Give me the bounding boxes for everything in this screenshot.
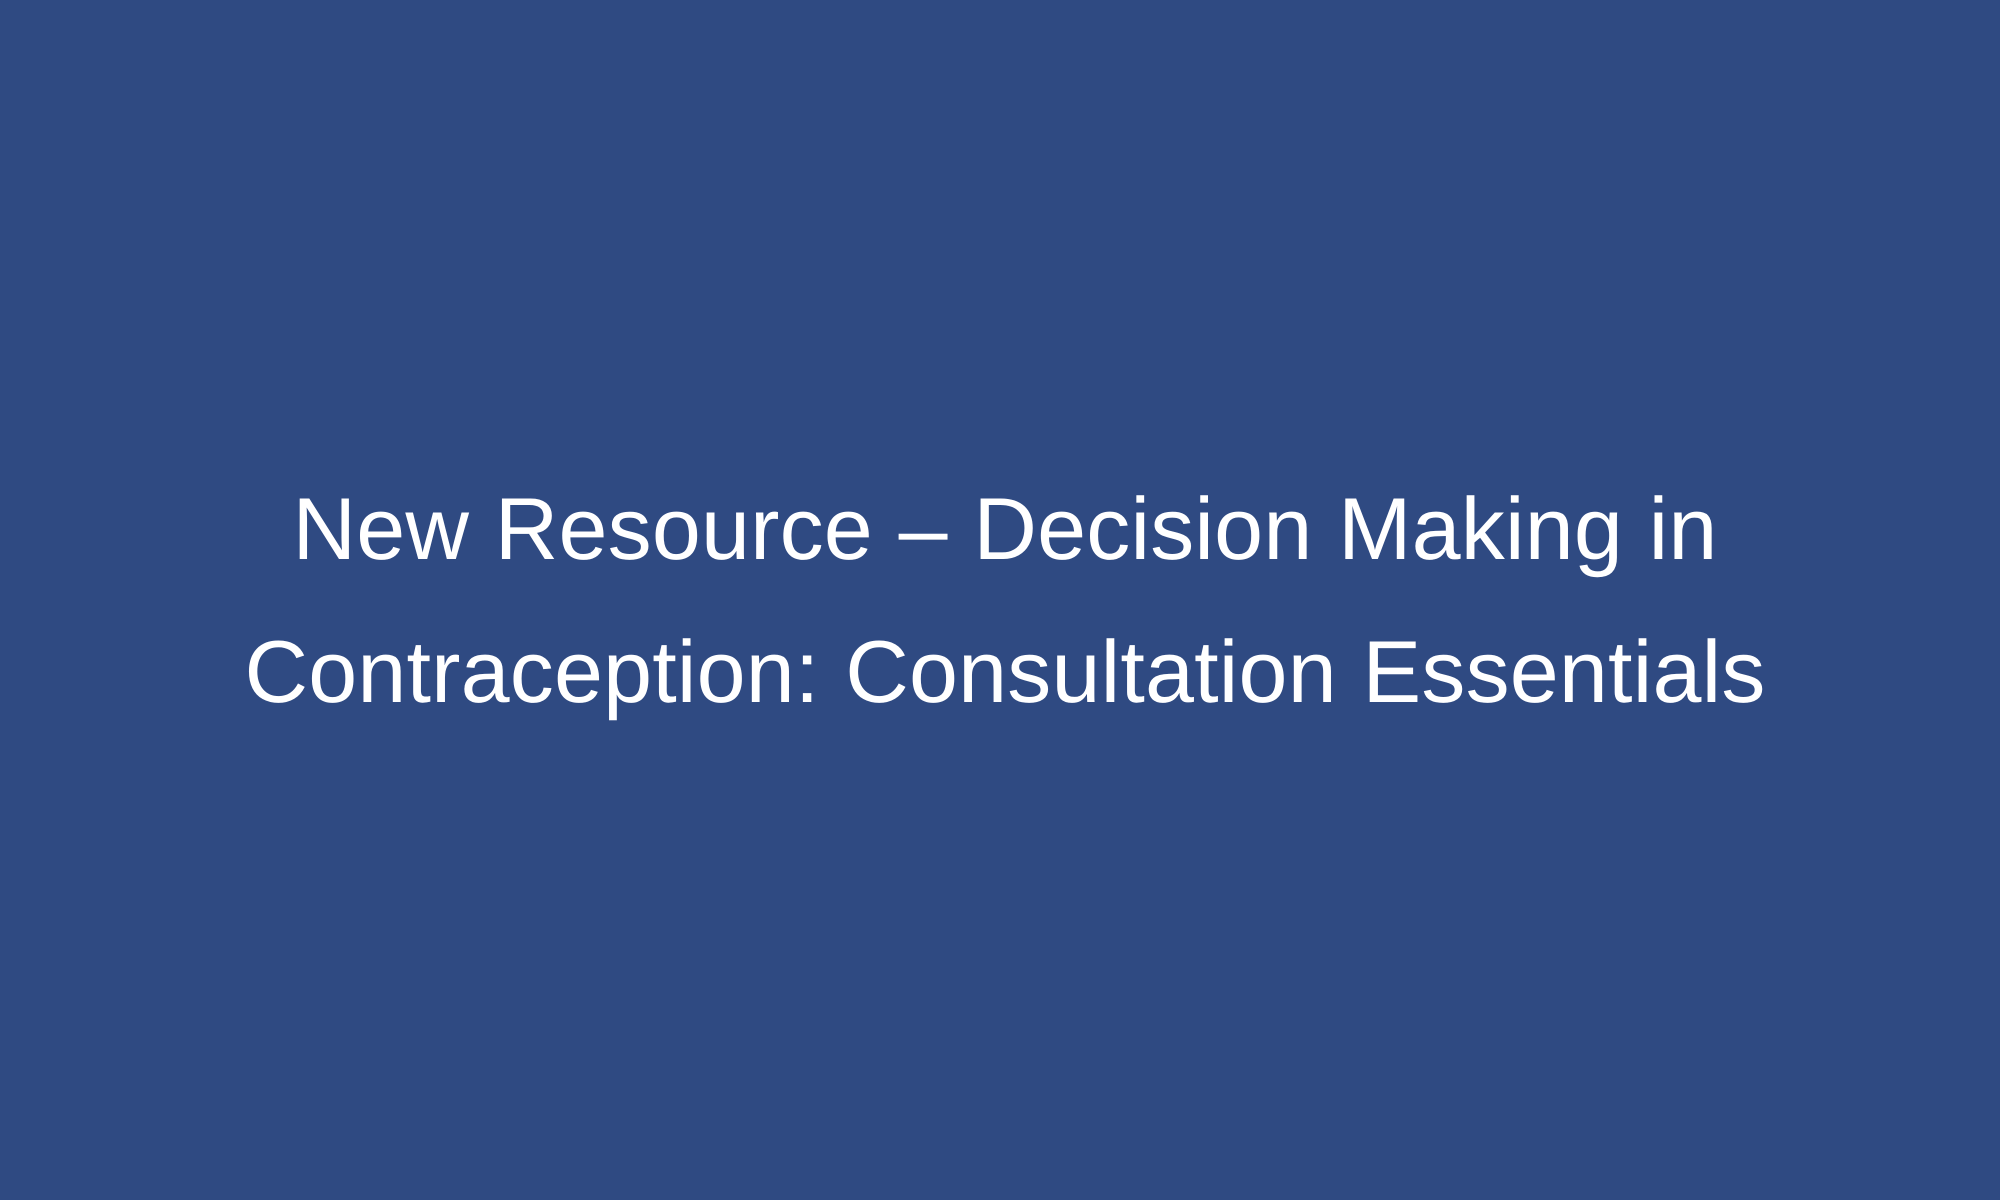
page-title: New Resource – Decision Making in Contra… — [235, 457, 1775, 743]
title-block: New Resource – Decision Making in Contra… — [235, 398, 1775, 802]
title-card: New Resource – Decision Making in Contra… — [0, 0, 2000, 1200]
